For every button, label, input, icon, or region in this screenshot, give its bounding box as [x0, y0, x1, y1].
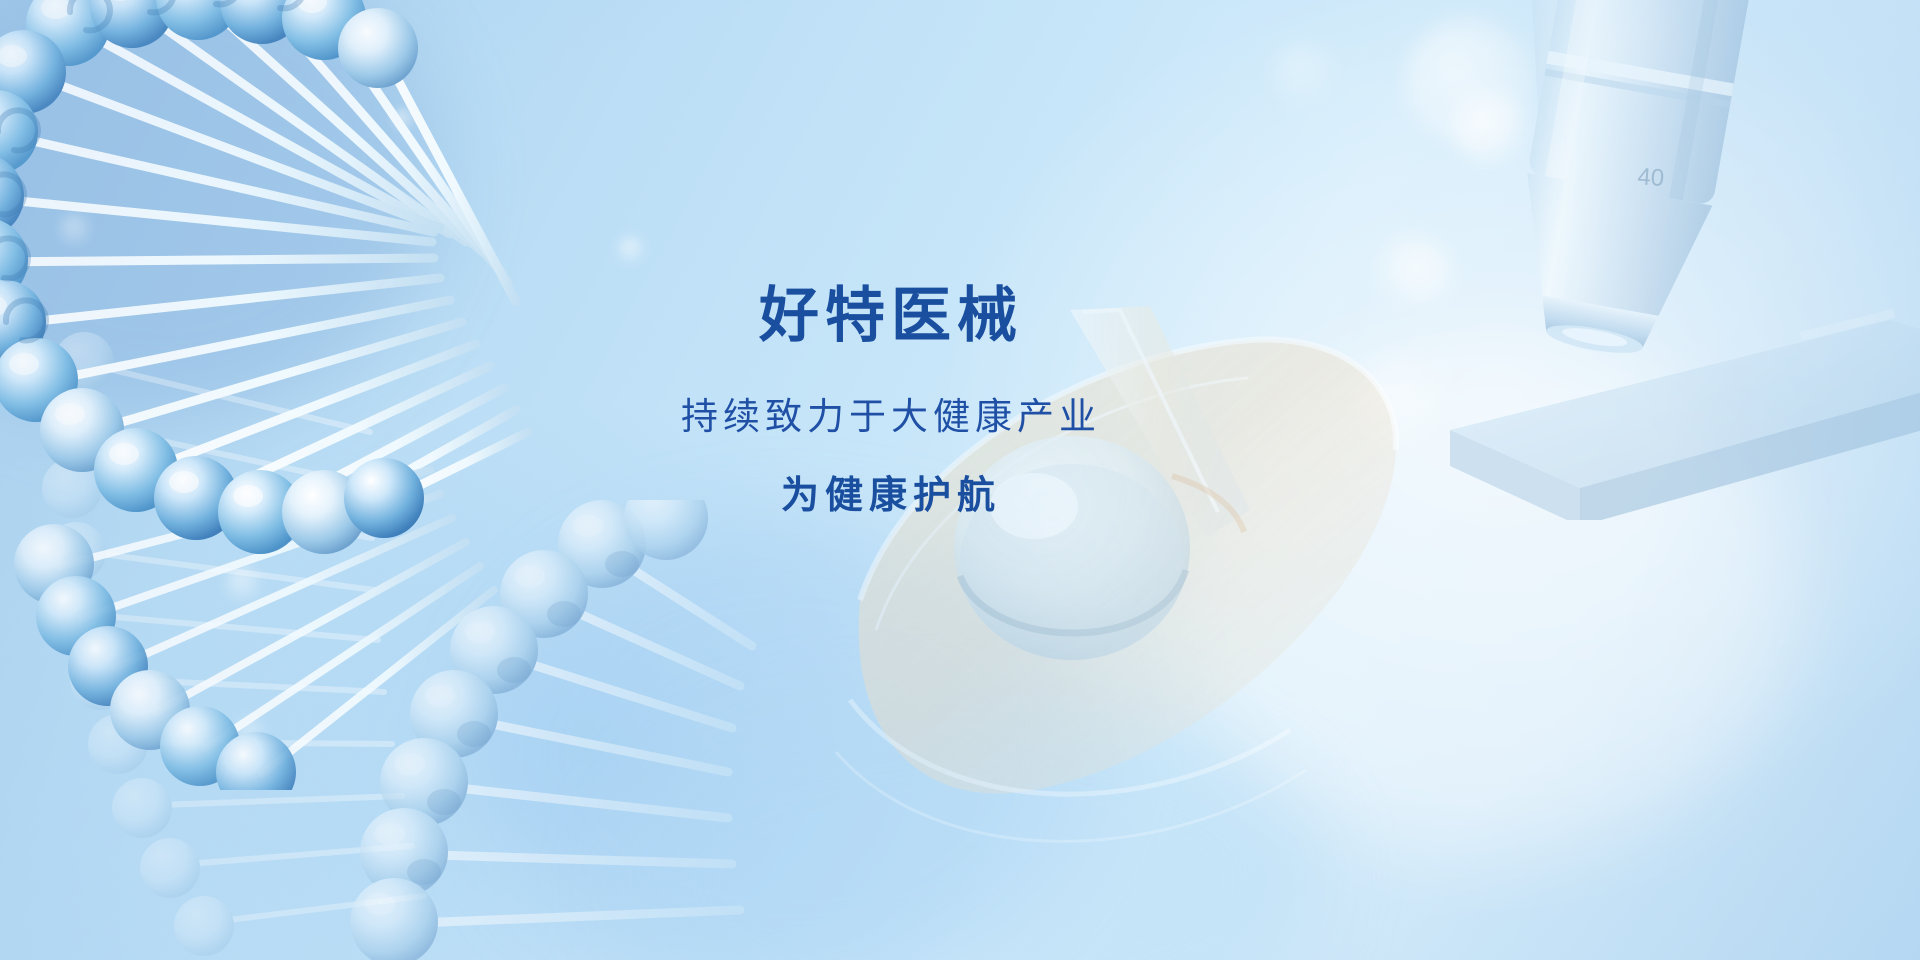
- banner-copy-block: 好特医械 持续致力于大健康产业 为健康护航: [0, 0, 1920, 960]
- banner-subtitle: 持续致力于大健康产业: [681, 398, 1101, 435]
- banner-title: 好特医械: [759, 286, 1023, 346]
- hero-banner: 40: [0, 0, 1920, 960]
- banner-tagline: 为健康护航: [781, 477, 1001, 515]
